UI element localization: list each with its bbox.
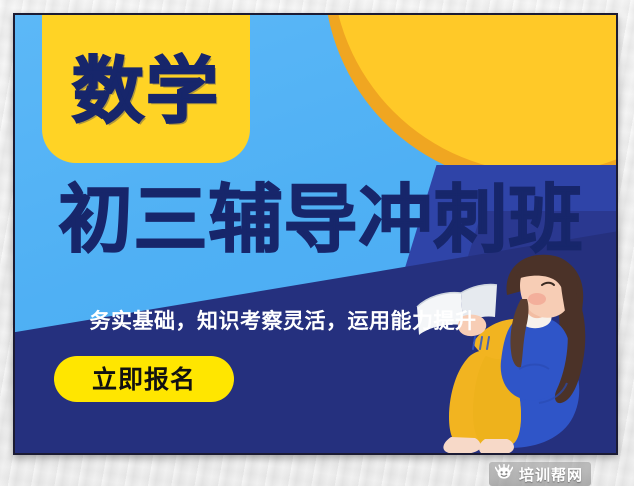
- enroll-now-button-label: 立即报名: [92, 367, 196, 392]
- site-watermark-text: 培训帮网: [519, 464, 583, 485]
- smiley-face-icon: [495, 464, 513, 485]
- poster-subtitle: 务实基础，知识考察灵活，运用能力提升: [33, 311, 533, 332]
- course-promo-poster: 数学 初三辅导冲刺班 务实基础，知识考察灵活，运用能力提升 立即报名: [13, 13, 618, 455]
- subject-badge: 数学: [42, 13, 250, 163]
- girl-reading-book-illustration: [411, 251, 618, 455]
- poster-headline: 初三辅导冲刺班: [33, 183, 609, 257]
- subject-badge-label: 数学: [72, 47, 220, 127]
- enroll-now-button[interactable]: 立即报名: [54, 356, 234, 402]
- site-watermark: 培训帮网: [489, 462, 591, 486]
